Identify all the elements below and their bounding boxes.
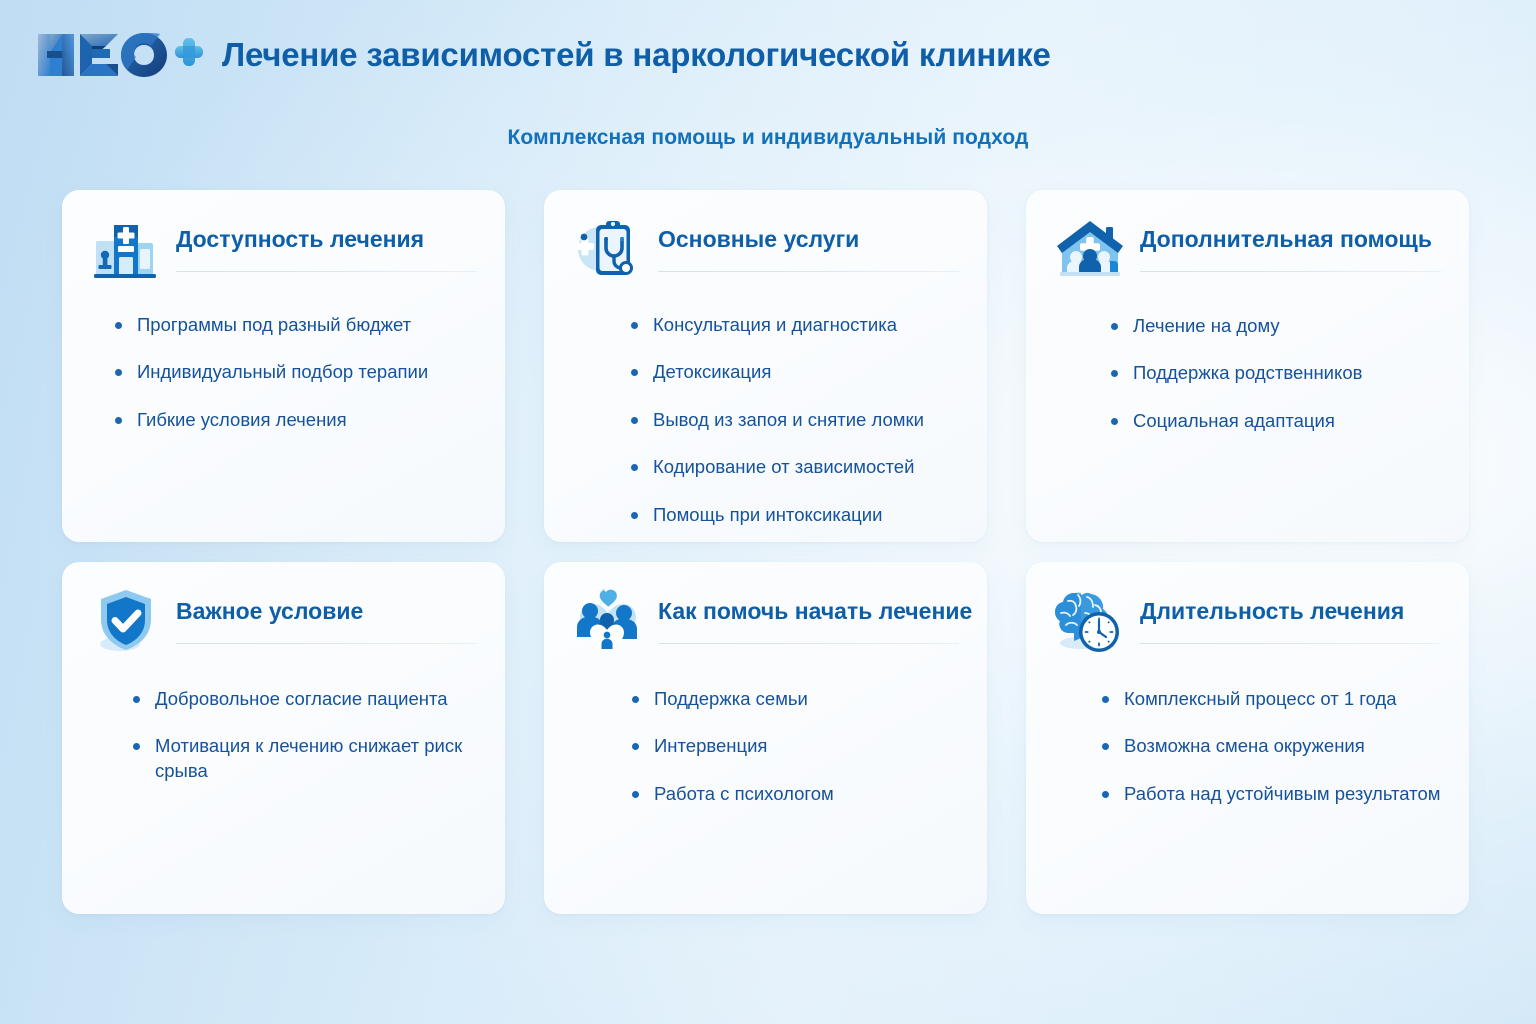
list-item: Лечение на дому [1106, 314, 1441, 338]
list-item: Индивидуальный подбор терапии [110, 360, 477, 384]
list-item: Помощь при интоксикации [626, 503, 959, 527]
brain-clock-icon [1054, 585, 1126, 657]
title-divider [176, 643, 477, 644]
card-header: Как помочь начать лечение [572, 589, 959, 657]
card-kak-pomoch-nachat-lechenie[interactable]: Как помочь начать лечение Поддержка семь… [544, 562, 987, 914]
card-dostupnost-lecheniya[interactable]: Доступность лечения Программы под разный… [62, 190, 505, 542]
card-title: Длительность лечения [1140, 599, 1441, 625]
card-dopolnitelnaya-pomoshch[interactable]: Дополнительная помощь Лечение на дому По… [1026, 190, 1469, 542]
card-header: Доступность лечения [90, 217, 477, 285]
shield-check-icon [90, 585, 162, 657]
card-header: Дополнительная помощь [1054, 217, 1441, 285]
card-bullet-list: Добровольное согласие пациента Мотивация… [90, 687, 477, 783]
page-header: Лечение зависимостей в наркологической к… [0, 0, 1536, 110]
card-header: Основные услуги [572, 217, 959, 285]
family-heart-icon [572, 585, 644, 657]
card-header: Важное условие [90, 589, 477, 657]
cards-grid: Доступность лечения Программы под разный… [62, 190, 1474, 914]
card-bullet-list: Лечение на дому Поддержка родственников … [1054, 314, 1441, 433]
title-divider [1140, 271, 1441, 272]
list-item: Поддержка родственников [1106, 361, 1441, 385]
list-item: Детоксикация [626, 360, 959, 384]
card-dlitelnost-lecheniya[interactable]: Длительность лечения Комплексный процесс… [1026, 562, 1469, 914]
page-title: Лечение зависимостей в наркологической к… [222, 38, 1051, 73]
card-title: Основные услуги [658, 227, 959, 253]
list-item: Социальная адаптация [1106, 409, 1441, 433]
list-item: Кодирование от зависимостей [626, 455, 959, 479]
card-title: Как помочь начать лечение [658, 599, 959, 625]
list-item: Работа с психологом [627, 782, 959, 806]
list-item: Вывод из запоя и снятие ломки [626, 408, 959, 432]
card-title: Доступность лечения [176, 227, 477, 253]
list-item: Программы под разный бюджет [110, 313, 477, 337]
title-divider [658, 271, 959, 272]
card-bullet-list: Поддержка семьи Интервенция Работа с пси… [572, 687, 959, 806]
infographic-page: Лечение зависимостей в наркологической к… [0, 0, 1536, 1024]
neo-plus-logo-icon [34, 27, 206, 83]
list-item: Добровольное согласие пациента [128, 687, 477, 711]
hospital-building-icon [90, 213, 162, 285]
title-divider [658, 643, 959, 644]
card-bullet-list: Программы под разный бюджет Индивидуальн… [90, 313, 477, 432]
page-subtitle: Комплексная помощь и индивидуальный подх… [0, 126, 1536, 150]
list-item: Комплексный процесс от 1 года [1097, 687, 1441, 711]
card-title: Дополнительная помощь [1140, 227, 1441, 253]
list-item: Работа над устойчивым результатом [1097, 782, 1441, 806]
card-bullet-list: Комплексный процесс от 1 года Возможна с… [1054, 687, 1441, 806]
list-item: Возможна смена окружения [1097, 734, 1441, 758]
card-vazhnoe-uslovie[interactable]: Важное условие Добровольное согласие пац… [62, 562, 505, 914]
card-bullet-list: Консультация и диагностика Детоксикация … [572, 313, 959, 527]
list-item: Поддержка семьи [627, 687, 959, 711]
list-item: Консультация и диагностика [626, 313, 959, 337]
list-item: Мотивация к лечению снижает риск срыва [128, 734, 477, 783]
title-divider [176, 271, 477, 272]
list-item: Интервенция [627, 734, 959, 758]
card-title: Важное условие [176, 599, 477, 625]
clipboard-stethoscope-icon [572, 213, 644, 285]
card-header: Длительность лечения [1054, 589, 1441, 657]
list-item: Гибкие условия лечения [110, 408, 477, 432]
title-divider [1140, 643, 1441, 644]
home-with-family-icon [1054, 213, 1126, 285]
card-osnovnye-uslugi[interactable]: Основные услуги Консультация и диагности… [544, 190, 987, 542]
